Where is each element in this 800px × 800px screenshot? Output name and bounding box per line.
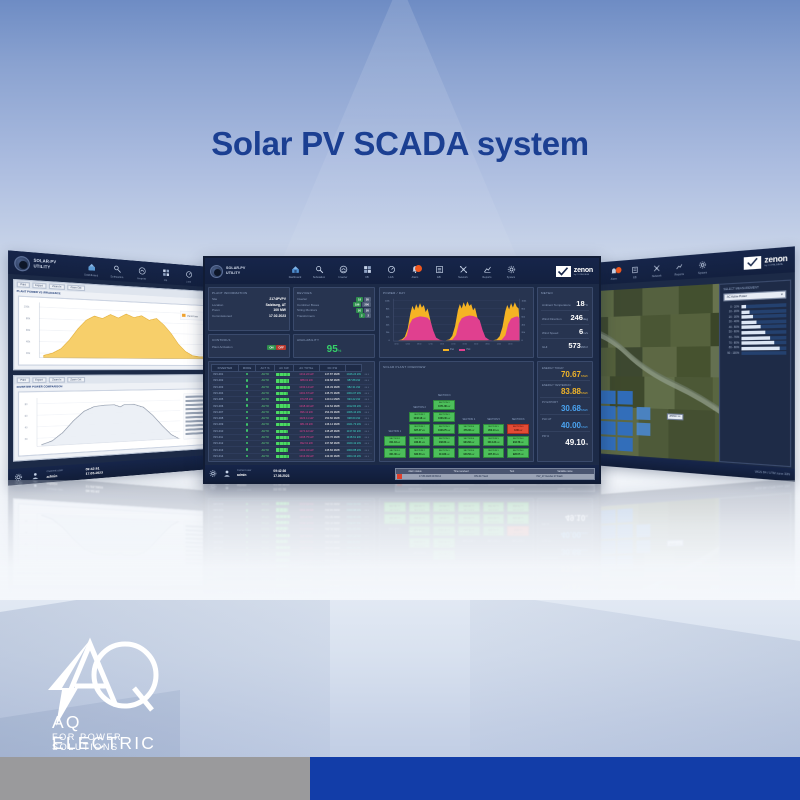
legend-row: 90 - 100%: [723, 352, 786, 356]
gear-icon: [691, 258, 715, 271]
energy-row: PV EXPORT 30.68MWh: [540, 398, 590, 415]
legend-bar: [741, 341, 786, 345]
right-vendor-logo: zenon by COPA-DATA: [744, 253, 795, 269]
toolbar-button[interactable]: Print: [17, 281, 30, 288]
right-status-right: WGS 84 / UTM zone 33N: [755, 470, 790, 476]
plant-overview-column: SECTION 1SECTION 1811.43 kWSECTION 1821.…: [384, 430, 406, 458]
table-row[interactable]: INV-015AUTO1197.62 kW156.21 MWh1101.42 k…: [212, 459, 373, 462]
measurement-select-value: AC Active Power: [727, 295, 747, 299]
plant-overview-tile[interactable]: SECTION 2832.53 kW: [409, 448, 431, 459]
toolbar-button[interactable]: Zoom Out: [67, 377, 85, 383]
left-window-bottom: Print Export Zoom In Zoom Out INVERTER P…: [13, 374, 219, 462]
clock: 09:42:36 17.05.2023: [273, 469, 289, 478]
nav-item-cb[interactable]: CB: [154, 265, 177, 282]
inverter-name: INV-015: [212, 459, 239, 462]
svg-text:0: 0: [521, 340, 523, 342]
vendor-name: zenon: [574, 267, 593, 274]
map-legend-panel: SELECT MEASUREMENT AC Active Power ▾ 0 -…: [719, 280, 791, 468]
legend-bar: [741, 319, 786, 324]
nav-item-reports[interactable]: Reports: [668, 259, 691, 277]
legend-row: 70 - 80%: [723, 341, 786, 345]
list-icon: [427, 265, 451, 275]
svg-text:20k: 20k: [521, 332, 525, 334]
svg-text:100k: 100k: [521, 300, 527, 302]
current-user: Current user admin: [237, 469, 251, 477]
inverter-act-bar: [274, 459, 293, 462]
plant-info-row: Location Salzburg, AT: [212, 303, 286, 307]
inverters-card: INVERTER MODE ACT % AC KW AC TOTAL DC KW…: [208, 361, 375, 462]
plant-overview-tile[interactable]: SECTION 5953.14 kW: [483, 424, 505, 435]
nav-item-reports[interactable]: Reports: [475, 264, 499, 279]
dashboard-body: PLANT INFORMATION Site 2174PVPV Location…: [205, 284, 599, 465]
inverter-dc-kw: 1101.42 kW: [346, 459, 362, 462]
svg-text:08:00: 08:00: [417, 344, 421, 346]
devices-card: DEVICES Inverter 18 20 Combiner Boxes 19…: [293, 287, 375, 331]
nav-item-eb[interactable]: EB: [624, 262, 645, 279]
svg-text:20:00: 20:00: [451, 344, 455, 346]
alarm-badge: [616, 266, 622, 273]
plant-overview-column: SECTION 5SECTION 5953.14 kWSECTION 51014…: [483, 418, 505, 458]
svg-text:12:00: 12:00: [497, 344, 501, 346]
plant-overview-tile[interactable]: SECTION 6943.78 kW: [507, 436, 529, 447]
right-monitor-screen: CB Alarm EB: [580, 246, 795, 481]
chevron-down-icon: ▾: [781, 293, 782, 297]
network-icon: [646, 262, 668, 274]
plant-overview-tile[interactable]: SECTION 31023.75 kW: [433, 424, 455, 435]
solar-pv-utility-logo-icon: [14, 255, 30, 271]
footer-bar-grey: [0, 757, 310, 800]
inverter-icon: [331, 265, 355, 275]
dashboard-status-bar: Current user admin 09:42:36 17.05.2023 A…: [205, 465, 599, 482]
table-header-row: INVERTER MODE ACT % AC KW AC TOTAL DC KW: [212, 365, 373, 372]
legend-bar: [741, 335, 786, 339]
left-clock: 09:42:51 17.05.2023: [86, 465, 103, 476]
zenon-check-icon: [744, 255, 761, 269]
plant-overview-grid[interactable]: SECTION 1SECTION 1811.43 kWSECTION 1821.…: [384, 371, 529, 458]
left-brand-text: SOLAR-PV UTILITY: [34, 258, 57, 271]
user-icon[interactable]: [223, 470, 231, 478]
device-row: Inverter 18 20: [297, 297, 371, 301]
legend-bar: [741, 303, 786, 308]
energy-value: 30.68MWh: [542, 404, 588, 413]
svg-text:40: 40: [25, 427, 29, 430]
center-monitor-screen: SOLAR-PV UTILITY Dashboard: [205, 258, 599, 482]
legend-row: 30 - 40%: [723, 319, 786, 324]
svg-text:00:00: 00:00: [394, 344, 398, 346]
legend-swatch: [459, 349, 465, 352]
report-chart-icon: [475, 265, 499, 275]
inverters-table-body: INV-001AUTO1012.22 kW147.87 MWh1046.24 k…: [212, 372, 373, 463]
meteo-row: Wind Direction 246deg: [541, 311, 589, 325]
toolbar-button[interactable]: Zoom Out: [67, 285, 85, 292]
zenon-check-icon: [556, 266, 571, 277]
svg-text:100k: 100k: [385, 300, 391, 302]
gear-icon[interactable]: [209, 470, 217, 478]
toolbar-button[interactable]: Print: [17, 377, 30, 383]
toolbar-button[interactable]: Export: [32, 377, 47, 383]
alarm-badge: [415, 265, 422, 272]
plant-info-row: Commissioned 17.02.2023: [212, 314, 286, 318]
svg-text:00:00: 00:00: [463, 344, 467, 346]
company-logo: AQ ELECTRIC FOR POWER SOLUTIONS: [22, 628, 192, 750]
plant-activation-off-button[interactable]: OFF: [276, 345, 286, 350]
center-monitor: SOLAR-PV UTILITY Dashboard: [203, 256, 601, 484]
nav-item-system[interactable]: System: [691, 257, 715, 275]
plant-overview-tile[interactable]: SECTION 31071.08 kW: [433, 400, 455, 411]
svg-text:100k: 100k: [24, 305, 31, 309]
toolbar-button[interactable]: Export: [32, 282, 47, 289]
inverter-mode: AUTO: [256, 459, 275, 462]
vendor-subtitle: by COPA-DATA: [574, 274, 593, 276]
plant-overview-tile[interactable]: SECTION 2827.47 kW: [409, 424, 431, 435]
svg-text:40k: 40k: [386, 324, 390, 326]
scada-dashboard: SOLAR-PV UTILITY Dashboard: [205, 258, 599, 482]
svg-text:16:00: 16:00: [508, 344, 512, 346]
energy-row: PR % 49.10%: [540, 432, 590, 448]
plant-overview-column: SECTION 4SECTION 4476.06 kWSECTION 4934.…: [458, 418, 480, 458]
device-row: Transformers 2 2: [297, 314, 371, 318]
grid-blocks-icon: [154, 266, 177, 278]
inverter-status-dot: [238, 459, 256, 462]
svg-text:80k: 80k: [26, 317, 31, 321]
legend-bar: [741, 330, 786, 334]
substation-icon: [307, 265, 331, 275]
svg-text:Plant Power: Plant Power: [187, 315, 198, 319]
nav-item-alarm[interactable]: Alarm: [604, 264, 625, 281]
power-day-chart: 100k80k60k 40k20k0 100k80k60k 40k20k0 00…: [383, 297, 530, 350]
energy-totals-card: ENERGY TODAY 70.67MWh ENERGY YESTERDAY 8…: [537, 361, 593, 462]
svg-text:40k: 40k: [521, 324, 525, 326]
legend-row: 80 - 90%: [723, 346, 786, 350]
svg-text:20k: 20k: [386, 332, 390, 334]
monitor-stage: SOLAR-PV UTILITY Dashboard: [0, 250, 800, 480]
gear-icon: [499, 265, 523, 275]
plant-overview-tile[interactable]: SECTION 4934.66 kW: [458, 436, 480, 447]
grid-blocks-icon: [355, 265, 379, 275]
legend-row: 50 - 60%: [723, 330, 786, 335]
footer-bar-blue: [310, 757, 800, 800]
nav-item-dashboard[interactable]: Dashboard: [283, 264, 307, 279]
svg-text:12:00: 12:00: [429, 344, 433, 346]
inverter-icon: [129, 264, 153, 276]
availability-card: AVAILABILITY 95%: [293, 334, 375, 358]
nav-item-eb[interactable]: EB: [427, 264, 451, 279]
gauge-icon: [177, 268, 200, 280]
dashboard-nav[interactable]: Dashboard Substation Inver: [283, 264, 523, 279]
left-current-user: Current user admin: [46, 469, 63, 480]
legend-bar: [741, 309, 786, 314]
nav-item-lgs[interactable]: LGS: [177, 267, 200, 284]
plant-overview-tile[interactable]: SECTION 60.00 kW: [507, 424, 529, 435]
legend-swatch: [443, 349, 449, 352]
energy-value: 70.67MWh: [542, 370, 588, 379]
left-window-top: Print Export Zoom In Zoom Out PLANT POWE…: [13, 279, 219, 370]
right-topbar: CB Alarm EB: [580, 246, 795, 286]
toolbar-button[interactable]: Zoom In: [49, 377, 65, 383]
svg-text:16:00: 16:00: [440, 344, 444, 346]
plant-overview-tile[interactable]: SECTION 5967.43 kW: [483, 448, 505, 459]
plant-overview-column: SECTION 6SECTION 60.00 kWSECTION 6943.78…: [507, 418, 529, 458]
measurement-select[interactable]: AC Active Power ▾: [723, 290, 786, 301]
plant-information-card: PLANT INFORMATION Site 2174PVPV Location…: [208, 287, 290, 331]
plant-overview-section-label: SECTION 1: [384, 430, 406, 433]
nav-item-system[interactable]: System: [499, 264, 523, 279]
energy-row: ENERGY YESTERDAY 83.88MWh: [540, 381, 590, 398]
page-title: Solar PV SCADA system: [0, 125, 800, 163]
energy-row: ENERGY TODAY 70.67MWh: [540, 364, 590, 381]
legend-bar: [741, 346, 786, 350]
network-icon: [451, 265, 475, 275]
device-row: Combiner Boxes 196 200: [297, 303, 371, 307]
svg-text:60: 60: [25, 416, 29, 418]
left-brand: SOLAR-PV UTILITY: [8, 254, 76, 274]
plant-overview-section-label: SECTION 3: [433, 394, 455, 397]
background-facet: [470, 590, 800, 760]
nav-item-dashboard[interactable]: Dashboard: [78, 259, 104, 278]
toolbar-button[interactable]: Zoom In: [49, 283, 65, 290]
nav-item-substation[interactable]: Substation: [104, 261, 129, 279]
svg-text:60k: 60k: [386, 316, 390, 318]
svg-text:80k: 80k: [521, 308, 525, 310]
plant-overview-tile[interactable]: SECTION 6928.07 kW: [507, 448, 529, 459]
plant-overview-section-label: SECTION 5: [483, 418, 505, 421]
plant-overview-tile[interactable]: SECTION 2946.31 kW: [409, 436, 431, 447]
svg-text:80: 80: [25, 404, 29, 406]
legend-item: Pdc: [459, 349, 470, 352]
alarm-banner[interactable]: Alarm status Time received Text Variable…: [395, 468, 595, 480]
plant-info-row: Pnom 100 MW: [212, 308, 286, 312]
power-day-chart-card: POWER / DAY: [379, 287, 534, 358]
map-tooltip: ARRAY 04: [666, 414, 683, 421]
meteo-row: GHI 573W/m²: [541, 339, 589, 352]
plant-overview-tile[interactable]: SECTION 1821.30 kW: [384, 448, 406, 459]
nav-item-inverter[interactable]: Inverter: [331, 264, 355, 279]
inverter-ac-kw: 1197.62 kW: [293, 459, 319, 462]
legend-scale: 0 - 10% 10 - 20% 20 - 30% 30 - 40%: [723, 303, 786, 355]
svg-text:0: 0: [389, 340, 391, 342]
alarm-banner-row[interactable]: 17.05.2023 09:39:12 INV-017 fault INV_17…: [396, 474, 594, 479]
report-chart-icon: [668, 260, 691, 273]
row-menu-button[interactable]: •••: [362, 459, 372, 462]
gear-icon[interactable]: [13, 472, 23, 482]
vendor-logo: zenon by COPA-DATA: [523, 266, 599, 277]
availability-value: 95%: [297, 344, 371, 355]
energy-value: 49.10%: [542, 438, 588, 447]
inverters-table[interactable]: INVERTER MODE ACT % AC KW AC TOTAL DC KW…: [211, 364, 372, 462]
svg-text:08:00: 08:00: [485, 344, 489, 346]
alarm-status-indicator: [397, 474, 402, 479]
plant-overview-section-label: SECTION 2: [409, 406, 431, 409]
svg-text:60k: 60k: [26, 328, 31, 332]
nav-item-cb[interactable]: CB: [355, 264, 379, 279]
control-row: Plant Activation ON OFF: [212, 345, 286, 349]
device-row: String Monitors 20 20: [297, 308, 371, 312]
svg-text:80k: 80k: [386, 308, 390, 310]
left-chart-bottom: 80604020: [18, 388, 216, 457]
meteo-row: Wind Speed 6m/s: [541, 325, 589, 339]
inverter-ac-total: 156.21 MWh: [319, 459, 345, 462]
nav-item-inverter[interactable]: Inverter: [129, 263, 153, 281]
dashboard-topbar: SOLAR-PV UTILITY Dashboard: [205, 258, 599, 284]
nav-item-substation[interactable]: Substation: [307, 264, 331, 279]
plant-overview-tile[interactable]: SECTION 3114.86 kW: [433, 448, 455, 459]
left-monitor-screen: SOLAR-PV UTILITY Dashboard: [8, 250, 223, 485]
app-brand: SOLAR-PV UTILITY: [205, 265, 283, 278]
legend-bar: [741, 325, 786, 330]
svg-text:20: 20: [25, 439, 29, 442]
left-chart-top: 100k80k60k 40k20k Plant Power: [18, 296, 216, 366]
dashboard-icon: [283, 265, 307, 275]
plant-overview-section-label: SECTION 4: [458, 418, 480, 421]
solar-pv-utility-logo-icon: [210, 265, 223, 278]
plant-activation-on-button[interactable]: ON: [267, 345, 275, 350]
energy-row: PLD AT 40.00MWh: [540, 415, 590, 432]
energy-value: 40.00MWh: [542, 421, 588, 430]
left-monitor: SOLAR-PV UTILITY Dashboard: [8, 250, 223, 485]
legend-item: Pac: [443, 349, 454, 352]
legend-bar: [741, 314, 786, 319]
plant-overview-tile[interactable]: SECTION 51014.24 kW: [483, 436, 505, 447]
plant-overview-tile[interactable]: SECTION 4940.56 kW: [458, 448, 480, 459]
plant-overview-column: SECTION 2SECTION 21048.18 kWSECTION 2827…: [409, 406, 431, 458]
plant-info-row: Site 2174PVPV: [212, 297, 286, 301]
plant-overview-tile[interactable]: SECTION 21048.18 kW: [409, 412, 431, 423]
nav-item-network[interactable]: Network: [451, 264, 475, 279]
svg-text:04:00: 04:00: [406, 344, 410, 346]
legend-row: 40 - 50%: [723, 325, 786, 330]
company-tagline: FOR POWER SOLUTIONS: [52, 732, 192, 752]
gauge-icon: [379, 265, 403, 275]
svg-text:60k: 60k: [521, 316, 525, 318]
power-chart-legend: Pac Pdc: [383, 349, 530, 352]
controls-card: CONTROLS Plant Activation ON OFF: [208, 334, 290, 358]
app-brand-text: SOLAR-PV UTILITY: [226, 266, 245, 276]
nav-item-lgs[interactable]: LGS: [379, 264, 403, 279]
legend-row: 60 - 70%: [723, 335, 786, 340]
nav-item-network[interactable]: Network: [646, 261, 668, 279]
nav-item-alarm[interactable]: Alarm: [403, 264, 427, 279]
user-icon[interactable]: [30, 470, 40, 480]
energy-value: 83.88MWh: [542, 387, 588, 396]
meteo-card: METEO Ambient Temperature 18°C Wind Dire…: [537, 287, 593, 358]
plant-overview-column: SECTION 3SECTION 31071.08 kWSECTION 3106…: [433, 394, 455, 458]
svg-text:04:00: 04:00: [474, 344, 478, 346]
substation-icon: [104, 262, 129, 275]
plant-overview-tile[interactable]: SECTION 3138.60 kW: [433, 436, 455, 447]
legend-bar: [741, 352, 786, 356]
plant-overview-tile[interactable]: SECTION 4476.06 kW: [458, 424, 480, 435]
list-icon: [624, 263, 645, 275]
plant-overview-tile[interactable]: SECTION 31063.40 kW: [433, 412, 455, 423]
right-monitor: CB Alarm EB: [580, 246, 795, 481]
meteo-row: Ambient Temperature 18°C: [541, 297, 589, 311]
plant-overview-section-label: SECTION 6: [507, 418, 529, 421]
svg-text:20k: 20k: [26, 352, 31, 356]
left-nav[interactable]: Dashboard Substation Inver: [76, 259, 223, 286]
plant-overview-tile[interactable]: SECTION 1811.43 kW: [384, 436, 406, 447]
dashboard-icon: [78, 260, 104, 273]
svg-text:40k: 40k: [26, 340, 31, 344]
plant-overview-card: SOLAR PLANT OVERVIEW SECTION 1SECTION 18…: [379, 361, 534, 462]
